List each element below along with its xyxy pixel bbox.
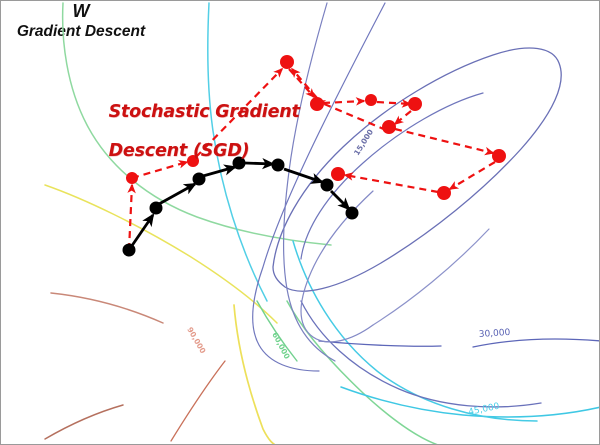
sgd-seg-10 [345,175,438,192]
contour-blue-upper-left [253,3,385,371]
sgd-point-7 [492,149,506,163]
gd-point-start [123,244,136,257]
contour-label-90000: 90,000 [185,326,207,356]
contour-label-45000: 45,000 [468,402,501,418]
sgd-seg-9 [450,162,495,189]
sgd-point-9 [331,167,345,181]
sgd-point-8 [437,186,451,200]
contour-brown-bottomleft [45,405,123,439]
contour-plot: 15,000 30,000 45,000 60,000 90,000 [1,1,600,445]
contour-blue-lower-right [373,229,489,325]
sgd-seg-8 [395,129,493,153]
sgd-annotation-line2: Descent (SGD) [109,141,250,161]
sgd-point-4 [365,94,377,106]
contour-blue-30000-left [301,301,541,407]
gd-point-5 [321,179,334,192]
gd-point-end [346,207,359,220]
sgd-annotation-label: Stochastic Gradient Descent (SGD) [85,83,300,181]
gd-seg-6 [331,191,349,209]
contour-orange-diagonal [171,361,225,441]
contour-lines [45,3,600,445]
contour-label-30000: 30,000 [479,328,511,340]
sgd-seg-7 [395,111,411,124]
sgd-annotation-line1: Stochastic Gradient [109,102,300,122]
contour-green-center [287,301,441,445]
gd-seg-2 [159,184,195,204]
sgd-point-2 [280,55,294,69]
sgd-seg-1 [129,185,132,250]
contour-salmon-left [51,293,163,323]
contour-label-15000: 15,000 [352,128,375,157]
contour-blue-basin-outer [273,48,561,291]
contour-blue-basin-inner [301,93,483,259]
contour-yellow-center [234,305,277,445]
sgd-seg-6 [377,102,410,104]
contour-label-60000: 60,000 [270,331,292,361]
sgd-point-3 [310,97,324,111]
sgd-point-5 [408,97,422,111]
sgd-seg-5 [323,101,364,103]
gradient-descent-figure: 15,000 30,000 45,000 60,000 90,000 Stoch… [0,0,600,445]
contour-blue-30000-right [473,339,600,347]
gd-point-1 [150,202,163,215]
sgd-point-6 [382,120,396,134]
